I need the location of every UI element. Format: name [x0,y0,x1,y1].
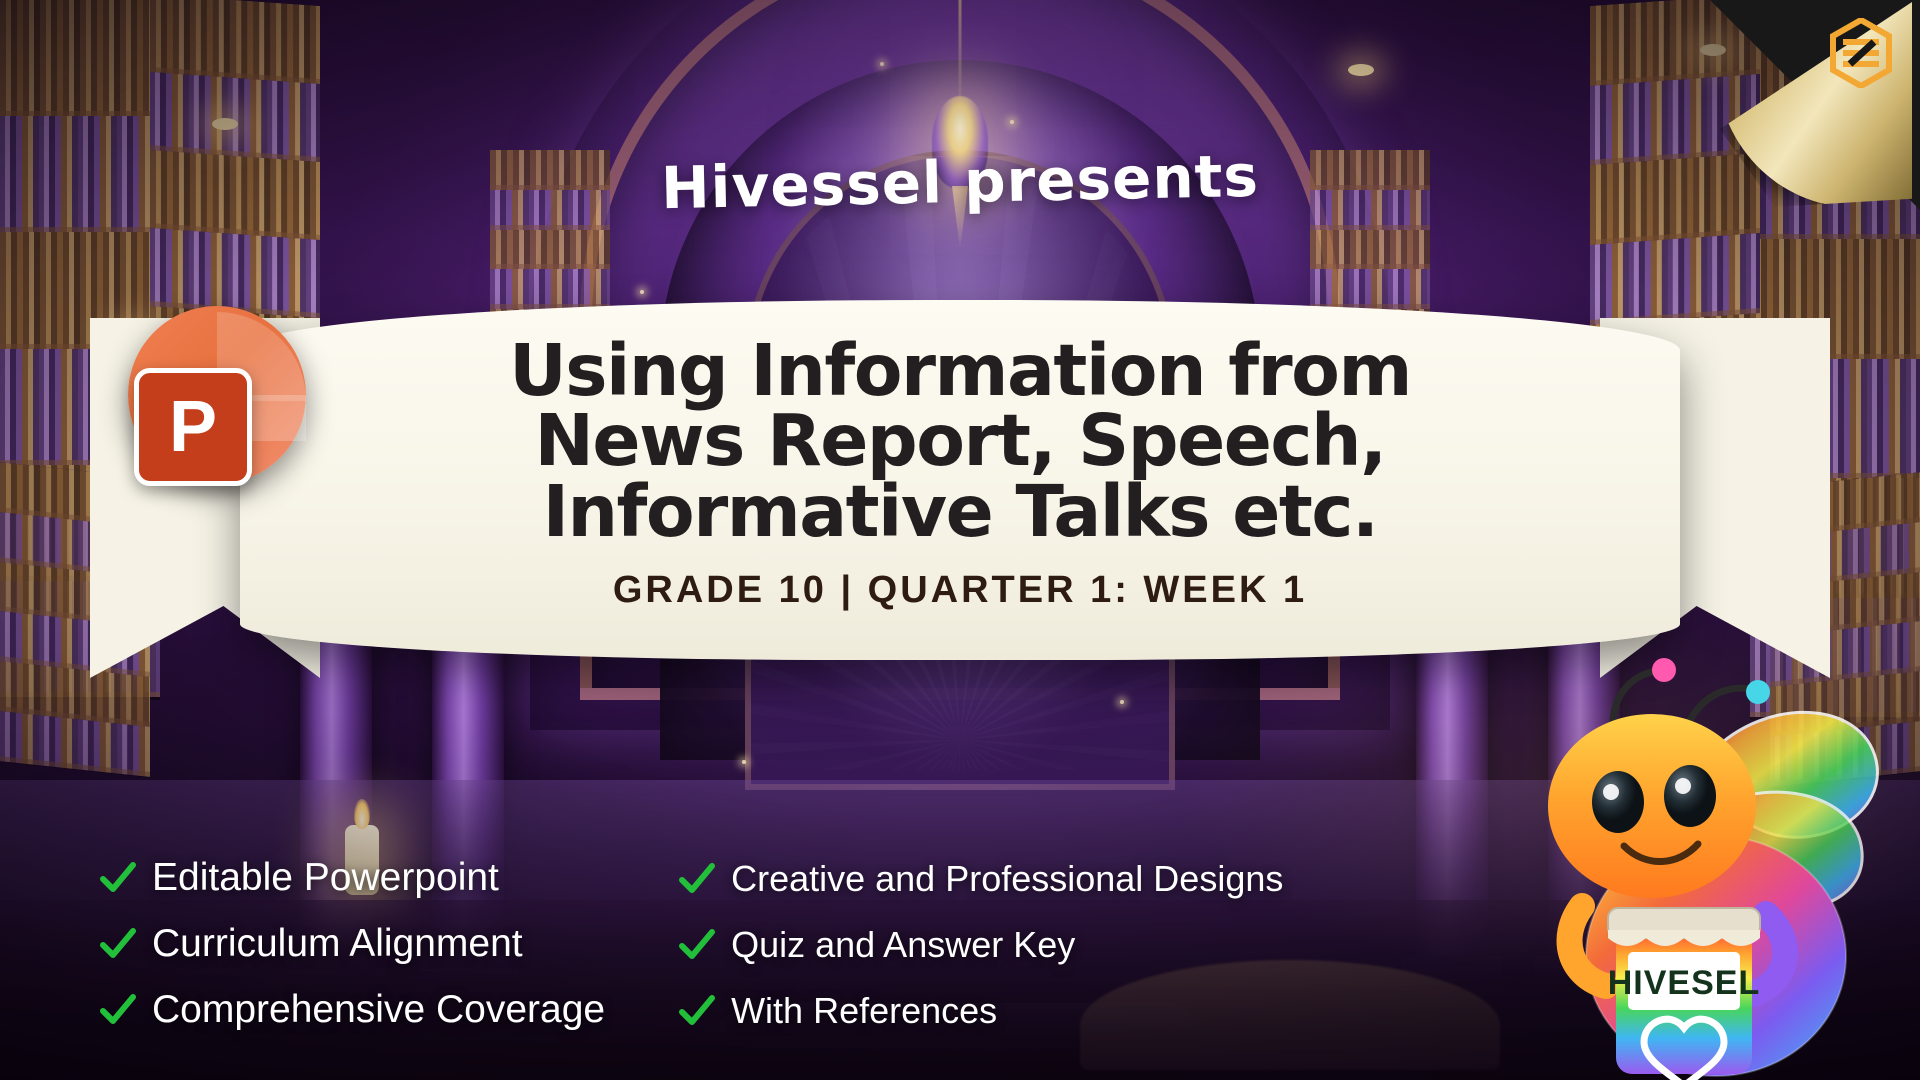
feature-column-right: Creative and Professional Designs Quiz a… [679,856,1283,1032]
powerpoint-letter: P [169,391,217,463]
powerpoint-icon: P [128,306,306,484]
honey-jar-icon: HIVESEL [1608,908,1760,1080]
feature-label: Comprehensive Coverage [152,988,605,1032]
list-item: Creative and Professional Designs [679,858,1283,900]
feature-label: With References [731,990,997,1032]
chandelier-stem [959,0,962,100]
title-line-1: Using Information from [180,336,1740,406]
check-icon [679,861,715,897]
list-item: With References [679,990,1283,1032]
check-icon [679,927,715,963]
list-item: Editable Powerpoint [100,856,605,900]
svg-text:HIVESEL: HIVESEL [1608,964,1760,1002]
grade-quarter-subtitle: GRADE 10 | QUARTER 1: WEEK 1 [180,569,1740,612]
hexagon-s-logo-icon[interactable] [1830,18,1892,88]
powerpoint-letter-card: P [134,368,252,486]
list-item: Curriculum Alignment [100,922,605,966]
spotlight [212,118,238,130]
feature-label: Quiz and Answer Key [731,924,1075,966]
spotlight [1348,64,1374,76]
title-line-2: News Report, Speech, [180,406,1740,476]
check-icon [100,992,136,1028]
title-banner: Using Information from News Report, Spee… [90,300,1830,700]
check-icon [679,993,715,1029]
list-item: Quiz and Answer Key [679,924,1283,966]
title-line-3: Informative Talks etc. [180,477,1740,547]
promo-slide: Hivessel presents Using Information from… [0,0,1920,1080]
feature-label: Editable Powerpoint [152,856,499,900]
feature-label: Creative and Professional Designs [731,858,1283,900]
feature-label: Curriculum Alignment [152,922,523,966]
check-icon [100,926,136,962]
page-title: Using Information from News Report, Spee… [180,336,1740,547]
rainbow-bee-mascot-icon: HIVESEL [1466,656,1896,1080]
page-curl-corner [1710,0,1920,210]
check-icon [100,860,136,896]
feature-column-left: Editable Powerpoint Curriculum Alignment… [100,856,605,1032]
list-item: Comprehensive Coverage [100,988,605,1032]
feature-list: Editable Powerpoint Curriculum Alignment… [100,856,1283,1032]
